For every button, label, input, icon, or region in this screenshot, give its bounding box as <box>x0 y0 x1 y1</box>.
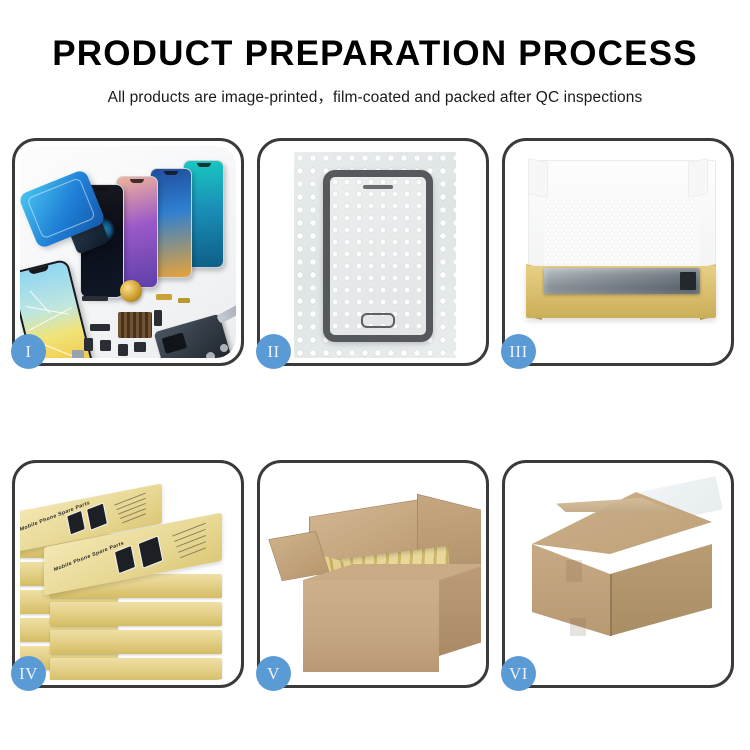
repair-tool-icon <box>216 297 236 324</box>
step-panel-6: VI <box>502 460 734 688</box>
step-badge-1: I <box>11 334 46 369</box>
step-image-4: Mobile Phone Spare Parts Mobile Phone Sp… <box>20 468 236 680</box>
step-badge-5: V <box>256 656 291 691</box>
stacked-boxes-illustration: Mobile Phone Spare Parts Mobile Phone Sp… <box>20 468 236 680</box>
step-badge-6: VI <box>501 656 536 691</box>
packed-screen-icon <box>544 268 700 294</box>
bubble-wrapped-screen-illustration <box>265 146 481 358</box>
sealed-carton-illustration <box>510 468 726 680</box>
step-badge-3: III <box>501 334 536 369</box>
step-panel-5: V <box>257 460 489 688</box>
step-image-5 <box>265 468 481 680</box>
carton-front-icon <box>303 580 439 672</box>
product-preparation-infographic: PRODUCT PREPARATION PROCESS All products… <box>0 0 750 750</box>
earpiece-slot-icon <box>363 185 393 189</box>
header: PRODUCT PREPARATION PROCESS All products… <box>0 0 750 107</box>
step-image-6 <box>510 468 726 680</box>
step-badge-4: IV <box>11 656 46 691</box>
step-image-3 <box>510 146 726 358</box>
page-title: PRODUCT PREPARATION PROCESS <box>0 36 750 73</box>
phone-screens-and-parts-illustration <box>20 146 236 358</box>
process-steps-grid: I II <box>12 138 740 688</box>
step-panel-1: I <box>12 138 244 366</box>
box-label-line-2: Mobile Phone Spare Parts <box>53 540 124 573</box>
box-stack-icon: Mobile Phone Spare Parts Mobile Phone Sp… <box>20 468 236 680</box>
step-image-1 <box>20 146 236 358</box>
product-in-open-box-illustration <box>510 146 726 358</box>
step-panel-2: II <box>257 138 489 366</box>
carton-with-boxes-illustration <box>265 468 481 680</box>
box-flap-right-icon <box>688 158 708 198</box>
step-panel-3: III <box>502 138 734 366</box>
phone-glass-panel-icon <box>323 170 433 342</box>
foam-padding-icon <box>544 198 700 270</box>
gold-component-icon <box>120 280 142 302</box>
page-subtitle: All products are image-printed，film-coat… <box>0 85 750 107</box>
step-badge-2: II <box>256 334 291 369</box>
step-panel-4: Mobile Phone Spare Parts Mobile Phone Sp… <box>12 460 244 688</box>
step-image-2 <box>265 146 481 358</box>
home-button-icon <box>361 313 395 328</box>
box-flap-left-icon <box>528 158 548 198</box>
chip-array-icon <box>118 312 152 338</box>
